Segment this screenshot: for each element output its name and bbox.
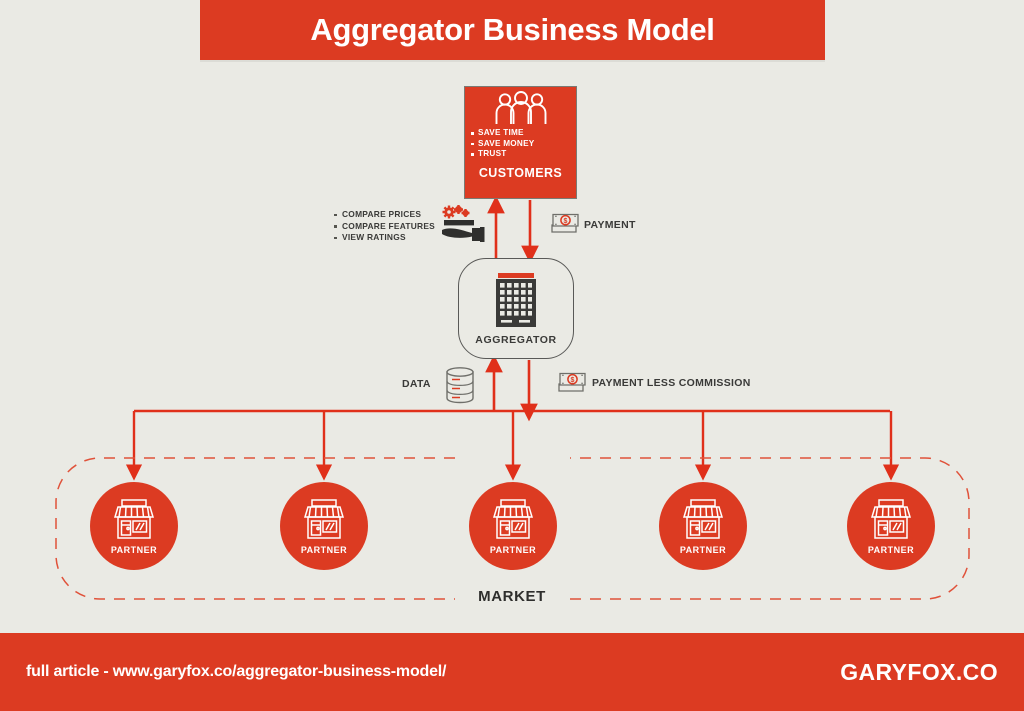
article-link[interactable]: full article - www.garyfox.co/aggregator…: [26, 663, 446, 681]
three-people-icon: [492, 92, 550, 126]
customers-node[interactable]: SAVE TIME SAVE MONEY TRUST CUSTOMERS: [464, 86, 577, 199]
aggregator-label: AGGREGATOR: [475, 334, 556, 346]
banknote-icon: $: [557, 372, 587, 394]
footer-bar: full article - www.garyfox.co/aggregator…: [0, 633, 1024, 711]
partner-node[interactable]: PARTNER: [847, 482, 935, 570]
value-prop: VIEW RATINGS: [334, 232, 435, 244]
customer-benefit: TRUST: [471, 149, 535, 160]
diagram-canvas: Aggregator Business Model: [0, 0, 1024, 711]
partner-label: PARTNER: [868, 545, 914, 555]
svg-text:$: $: [564, 218, 568, 225]
page-title: Aggregator Business Model: [310, 12, 714, 48]
value-props-list: COMPARE PRICES COMPARE FEATURES VIEW RAT…: [334, 209, 435, 244]
partner-label: PARTNER: [111, 545, 157, 555]
office-building-icon: [492, 272, 540, 330]
payment-label: PAYMENT: [584, 219, 636, 231]
partner-node[interactable]: PARTNER: [469, 482, 557, 570]
storefront-icon: [679, 498, 727, 542]
customer-benefit: SAVE MONEY: [471, 139, 535, 150]
banknote-icon: $: [550, 213, 580, 235]
partner-node[interactable]: PARTNER: [90, 482, 178, 570]
hand-holding-gears-icon: [436, 203, 490, 247]
title-bar: Aggregator Business Model: [200, 0, 825, 60]
customer-benefits-list: SAVE TIME SAVE MONEY TRUST: [465, 128, 535, 160]
partner-node[interactable]: PARTNER: [659, 482, 747, 570]
storefront-icon: [489, 498, 537, 542]
value-prop: COMPARE FEATURES: [334, 221, 435, 233]
data-label: DATA: [402, 378, 431, 390]
partner-label: PARTNER: [680, 545, 726, 555]
storefront-icon: [867, 498, 915, 542]
database-icon: [444, 366, 476, 404]
partner-label: PARTNER: [301, 545, 347, 555]
market-label: MARKET: [0, 588, 1024, 605]
customer-benefit: SAVE TIME: [471, 128, 535, 139]
aggregator-node[interactable]: AGGREGATOR: [458, 258, 574, 359]
storefront-icon: [110, 498, 158, 542]
storefront-icon: [300, 498, 348, 542]
partner-node[interactable]: PARTNER: [280, 482, 368, 570]
partner-label: PARTNER: [490, 545, 536, 555]
svg-text:$: $: [571, 377, 575, 384]
payment-less-commission-label: PAYMENT LESS COMMISSION: [592, 377, 751, 389]
value-prop: COMPARE PRICES: [334, 209, 435, 221]
brand-logo: GARYFOX.CO: [840, 659, 998, 686]
customers-label: CUSTOMERS: [479, 166, 562, 180]
